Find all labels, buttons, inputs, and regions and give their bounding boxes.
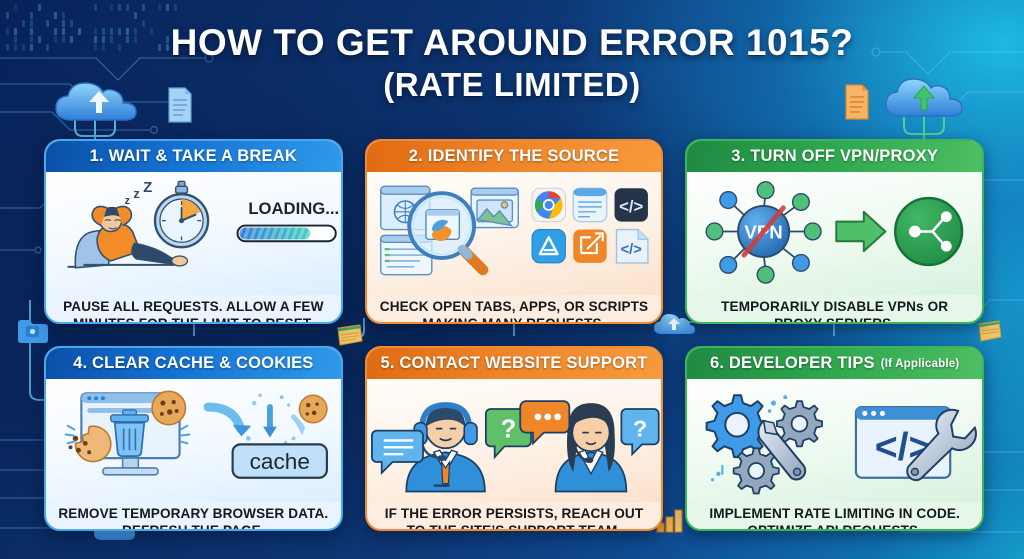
loading-label: LOADING... xyxy=(248,199,339,218)
svg-text:z: z xyxy=(125,195,131,207)
card-5-artwork: ? xyxy=(367,379,662,502)
card-6-artwork: </> xyxy=(687,379,982,502)
card-1-caption: PAUSE ALL REQUESTS. ALLOW A FEW MINUTES … xyxy=(46,295,341,324)
svg-text:</>: </> xyxy=(620,242,641,258)
title-line-2: (RATE LIMITED) xyxy=(0,68,1024,102)
card-4-heading-text: 4. CLEAR CACHE & COOKIES xyxy=(73,354,313,373)
card-1-heading-text: 1. WAIT & TAKE A BREAK xyxy=(90,147,297,166)
svg-text:Z: Z xyxy=(143,180,152,196)
card-5-caption: IF THE ERROR PERSISTS, REACH OUT TO THE … xyxy=(367,502,662,531)
code-file-icon: </> xyxy=(616,230,647,263)
svg-text:</>: </> xyxy=(619,197,643,216)
edit-square-icon xyxy=(573,230,606,263)
step-card-4[interactable]: 4. CLEAR CACHE & COOKIES xyxy=(44,346,343,531)
chrome-icon xyxy=(532,188,565,221)
svg-text:?: ? xyxy=(633,416,647,442)
code-brackets-icon: </> xyxy=(614,188,647,221)
step-card-3[interactable]: 3. TURN OFF VPN/PROXY xyxy=(685,139,984,324)
stopwatch-icon xyxy=(155,181,208,247)
curved-arrow-icon xyxy=(208,407,251,436)
step-card-6[interactable]: 6. DEVELOPER TIPS (If Applicable) xyxy=(685,346,984,531)
card-6-caption: IMPLEMENT RATE LIMITING IN CODE. OPTIMIZ… xyxy=(687,502,982,531)
card-4-caption: REMOVE TEMPORARY BROWSER DATA. REFRESH T… xyxy=(46,502,341,531)
card-4-artwork: cache xyxy=(46,379,341,502)
cookie-icon xyxy=(69,426,111,461)
card-3-header: 3. TURN OFF VPN/PROXY xyxy=(687,141,982,172)
cache-label: cache xyxy=(250,449,310,474)
progress-bar-icon xyxy=(238,226,336,242)
question-bubble-icon: ? xyxy=(621,409,658,454)
card-3-caption: TEMPORARILY DISABLE VPNs OR PROXY SERVER… xyxy=(687,295,982,324)
card-5-heading-text: 5. CONTACT WEBSITE SUPPORT xyxy=(380,354,647,373)
step-card-1[interactable]: 1. WAIT & TAKE A BREAK xyxy=(44,139,343,324)
card-2-caption: CHECK OPEN TABS, APPS, OR SCRIPTS MAKING… xyxy=(367,295,662,324)
card-2-heading-text: 2. IDENTIFY THE SOURCE xyxy=(409,147,619,166)
card-6-header: 6. DEVELOPER TIPS (If Applicable) xyxy=(687,348,982,379)
card-3-heading-text: 3. TURN OFF VPN/PROXY xyxy=(731,147,938,166)
step-card-5[interactable]: 5. CONTACT WEBSITE SUPPORT xyxy=(365,346,664,531)
cookie-icon xyxy=(152,391,185,424)
svg-text:?: ? xyxy=(500,415,516,443)
card-3-artwork: VPN xyxy=(687,172,982,295)
browser-window-icon xyxy=(471,188,518,227)
app-store-icon xyxy=(532,230,565,263)
page-title: HOW TO GET AROUND ERROR 1015? (RATE LIMI… xyxy=(0,24,1024,101)
title-line-1: HOW TO GET AROUND ERROR 1015? xyxy=(0,24,1024,62)
cookie-icon xyxy=(299,395,327,423)
svg-text:z: z xyxy=(133,186,139,201)
card-1-artwork: z z Z xyxy=(46,172,341,295)
card-2-artwork: </> </> xyxy=(367,172,662,295)
card-1-header: 1. WAIT & TAKE A BREAK xyxy=(46,141,341,172)
browser-app-icon xyxy=(573,188,606,221)
network-share-icon xyxy=(896,198,963,265)
right-arrow-icon xyxy=(837,212,886,251)
card-6-heading-text: 6. DEVELOPER TIPS xyxy=(710,354,875,373)
sleep-zzz-icon: z z Z xyxy=(125,180,153,207)
cache-box: cache xyxy=(233,444,327,477)
card-2-header: 2. IDENTIFY THE SOURCE xyxy=(367,141,662,172)
steps-grid: 1. WAIT & TAKE A BREAK xyxy=(44,139,984,531)
card-5-header: 5. CONTACT WEBSITE SUPPORT xyxy=(367,348,662,379)
card-6-subheading-text: (If Applicable) xyxy=(881,358,960,370)
step-card-2[interactable]: 2. IDENTIFY THE SOURCE xyxy=(365,139,664,324)
card-4-header: 4. CLEAR CACHE & COOKIES xyxy=(46,348,341,379)
vpn-node-network-icon: VPN xyxy=(706,182,821,283)
down-arrow-icon xyxy=(263,407,277,437)
gear-icon xyxy=(777,401,822,446)
